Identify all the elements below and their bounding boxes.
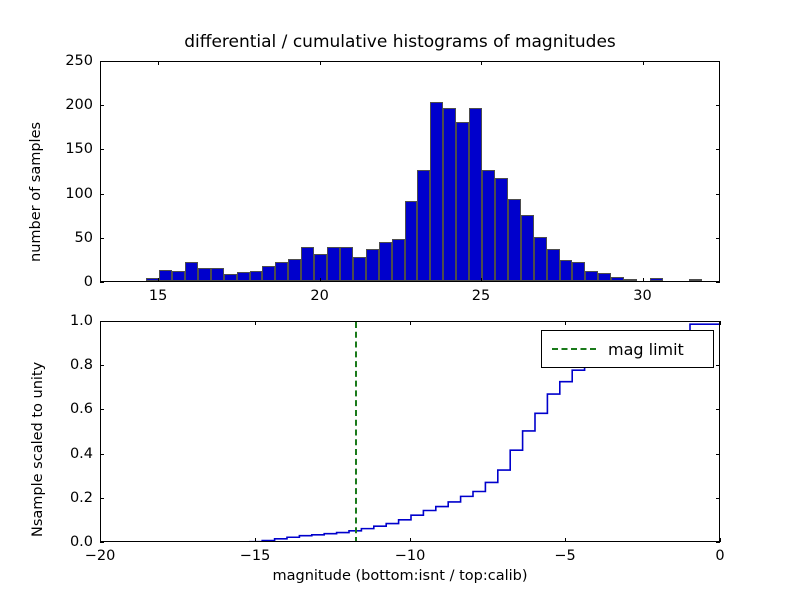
- histogram-bar: [443, 108, 456, 281]
- x-tick-label: 0: [715, 548, 724, 564]
- y-tick-mark: [100, 542, 104, 543]
- histogram-bar: [172, 271, 185, 281]
- figure-title: differential / cumulative histograms of …: [0, 32, 800, 52]
- y-tick-mark: [100, 454, 104, 455]
- differential-plot-area: [101, 62, 719, 281]
- histogram-bar: [353, 257, 366, 281]
- legend-label-mag-limit: mag limit: [608, 340, 684, 359]
- histogram-bar: [534, 237, 547, 281]
- histogram-bar: [301, 247, 314, 281]
- histogram-bar: [262, 266, 275, 281]
- x-tick-mark: [720, 538, 721, 542]
- histogram-bar: [598, 273, 611, 281]
- y-tick-label: 0.4: [70, 446, 93, 462]
- y-tick-mark: [716, 282, 720, 283]
- x-tick-label: 25: [472, 288, 490, 304]
- y-tick-mark: [100, 61, 104, 62]
- y-tick-mark: [716, 498, 720, 499]
- histogram-bar: [198, 268, 211, 281]
- histogram-bar: [650, 278, 663, 281]
- y-tick-mark: [716, 238, 720, 239]
- y-tick-mark: [100, 105, 104, 106]
- x-tick-label: 20: [310, 288, 328, 304]
- histogram-bar: [689, 279, 702, 281]
- histogram-bar: [508, 199, 521, 281]
- y-tick-label: 0.8: [70, 357, 93, 373]
- x-tick-label: −15: [240, 548, 271, 564]
- x-tick-mark: [255, 321, 256, 325]
- y-tick-mark: [716, 409, 720, 410]
- histogram-bar: [585, 271, 598, 281]
- histogram-bar: [237, 272, 250, 281]
- x-tick-mark: [320, 61, 321, 65]
- histogram-bar: [469, 108, 482, 281]
- y-tick-label: 150: [65, 141, 93, 157]
- y-tick-mark: [100, 365, 104, 366]
- y-tick-label: 0: [84, 274, 93, 290]
- legend[interactable]: mag limit: [541, 330, 714, 368]
- differential-histogram-axes: [100, 61, 720, 282]
- x-tick-mark: [410, 321, 411, 325]
- histogram-bar: [340, 247, 353, 281]
- x-tick-mark: [410, 538, 411, 542]
- x-tick-label: −20: [85, 548, 116, 564]
- y-tick-mark: [100, 238, 104, 239]
- histogram-bar: [327, 247, 340, 281]
- histogram-bar: [456, 122, 469, 281]
- x-tick-label: −5: [554, 548, 575, 564]
- histogram-bar: [547, 249, 560, 281]
- histogram-bar: [560, 260, 573, 281]
- y-tick-mark: [100, 149, 104, 150]
- histogram-bar: [379, 242, 392, 281]
- figure-canvas: differential / cumulative histograms of …: [0, 0, 800, 600]
- x-tick-mark: [643, 278, 644, 282]
- histogram-bar: [314, 254, 327, 281]
- y-tick-label: 0.2: [70, 490, 93, 506]
- x-tick-label: 30: [633, 288, 651, 304]
- x-tick-mark: [255, 538, 256, 542]
- y-tick-mark: [716, 194, 720, 195]
- histogram-bar: [288, 259, 301, 281]
- y-tick-label: 0.0: [70, 534, 93, 550]
- y-tick-label: 100: [65, 186, 93, 202]
- x-axis-label: magnitude (bottom:isnt / top:calib): [0, 568, 800, 584]
- x-tick-mark: [565, 321, 566, 325]
- cumulative-y-axis-label: Nsample scaled to unity: [30, 362, 46, 537]
- x-tick-mark: [643, 61, 644, 65]
- histogram-bar: [417, 170, 430, 281]
- y-tick-mark: [716, 61, 720, 62]
- y-tick-mark: [100, 282, 104, 283]
- y-tick-label: 1.0: [70, 313, 93, 329]
- histogram-bar: [405, 201, 418, 281]
- x-tick-label: −10: [395, 548, 426, 564]
- y-tick-mark: [716, 454, 720, 455]
- histogram-bar: [366, 249, 379, 281]
- histogram-bar: [185, 262, 198, 281]
- y-tick-mark: [100, 409, 104, 410]
- y-tick-label: 200: [65, 97, 93, 113]
- y-tick-mark: [716, 149, 720, 150]
- histogram-bar: [482, 170, 495, 281]
- histogram-bar: [624, 279, 637, 281]
- histogram-bar: [211, 268, 224, 281]
- x-tick-mark: [158, 278, 159, 282]
- y-tick-mark: [716, 321, 720, 322]
- histogram-bar: [224, 274, 237, 281]
- histogram-bar: [572, 262, 585, 281]
- y-tick-label: 250: [65, 53, 93, 69]
- histogram-bar: [275, 262, 288, 281]
- y-tick-label: 50: [75, 230, 93, 246]
- histogram-bar: [430, 102, 443, 281]
- differential-y-axis-label: number of samples: [28, 122, 44, 262]
- histogram-bar: [159, 270, 172, 281]
- histogram-bar: [392, 239, 405, 281]
- histogram-bar: [250, 271, 263, 281]
- mag-limit-line-swatch: [552, 348, 596, 350]
- x-tick-mark: [158, 61, 159, 65]
- y-tick-mark: [100, 321, 104, 322]
- histogram-bar: [495, 178, 508, 281]
- y-tick-mark: [716, 105, 720, 106]
- y-tick-label: 0.6: [70, 401, 93, 417]
- x-tick-mark: [565, 538, 566, 542]
- y-tick-mark: [716, 365, 720, 366]
- x-tick-mark: [481, 61, 482, 65]
- histogram-bar: [521, 215, 534, 281]
- y-tick-mark: [100, 498, 104, 499]
- x-tick-mark: [481, 278, 482, 282]
- histogram-bar: [611, 277, 624, 281]
- y-tick-mark: [100, 194, 104, 195]
- x-tick-mark: [720, 321, 721, 325]
- mag-limit-vline: [355, 322, 357, 541]
- x-tick-label: 15: [149, 288, 167, 304]
- x-tick-mark: [320, 278, 321, 282]
- y-tick-mark: [716, 542, 720, 543]
